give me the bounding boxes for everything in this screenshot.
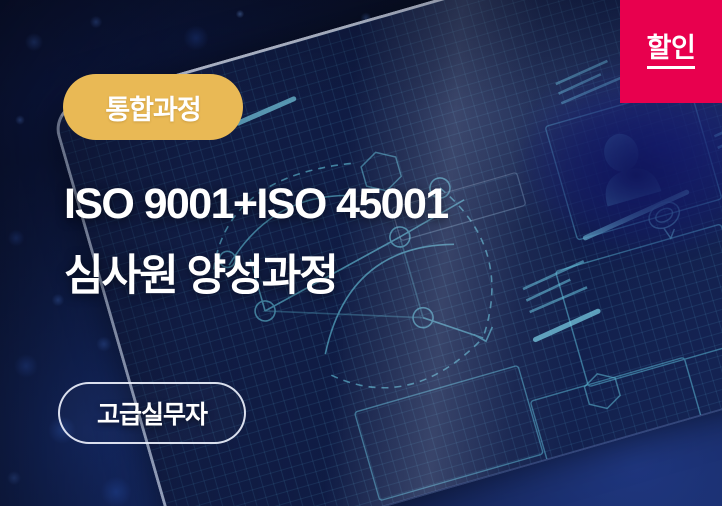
- course-type-badge: 통합과정: [63, 74, 243, 140]
- course-promo-banner: 할인 통합과정 ISO 9001+ISO 45001 심사원 양성과정 고급실무…: [0, 0, 722, 506]
- banner-title-line1: ISO 9001+ISO 45001: [64, 183, 448, 226]
- banner-content: 할인 통합과정 ISO 9001+ISO 45001 심사원 양성과정 고급실무…: [0, 0, 722, 506]
- level-badge: 고급실무자: [58, 382, 246, 444]
- level-badge-label: 고급실무자: [97, 395, 207, 431]
- banner-title-line2: 심사원 양성과정: [64, 255, 337, 298]
- discount-badge-label: 할인: [647, 34, 696, 70]
- course-type-badge-label: 통합과정: [105, 88, 200, 127]
- discount-badge[interactable]: 할인: [620, 0, 722, 103]
